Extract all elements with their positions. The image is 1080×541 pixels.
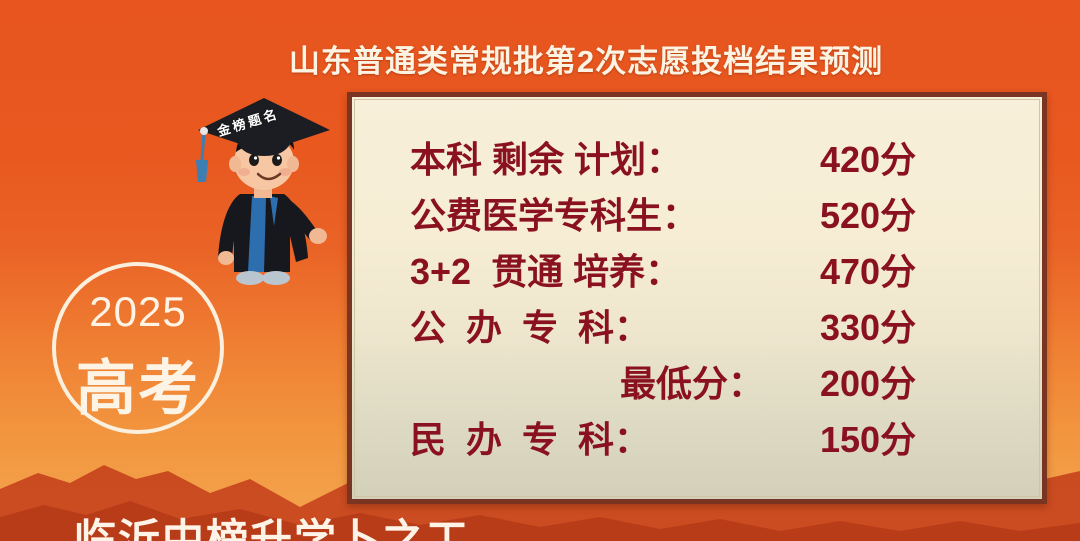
table-row: 民 办 专 科： 150分 xyxy=(352,411,1042,467)
table-row: 公 办 专 科： 330分 xyxy=(352,299,1042,355)
row-value: 470分 xyxy=(802,243,1042,295)
row-label: 本科 剩余 计划： xyxy=(352,131,802,183)
table-row: 本科 剩余 计划： 420分 xyxy=(352,131,1042,187)
row-value: 420分 xyxy=(802,131,1042,183)
row-label: 3+2 贯通 培养： xyxy=(352,243,802,295)
row-value: 150分 xyxy=(802,411,1042,463)
row-label: 民 办 专 科： xyxy=(352,411,802,463)
score-panel: 本科 剩余 计划： 420分 公费医学专科生： 520分 3+2 贯通 培养： … xyxy=(347,92,1047,504)
graduate-boy-icon: 金榜题名 xyxy=(178,86,346,296)
row-value: 200分 xyxy=(802,355,1042,407)
poster-canvas: 山东普通类常规批第2次志愿投档结果预测 2025 高考 xyxy=(0,0,1080,541)
row-value: 330分 xyxy=(802,299,1042,351)
bottom-slogan: 临沂中榜升学卜之工 xyxy=(74,506,470,541)
table-row: 公费医学专科生： 520分 xyxy=(352,187,1042,243)
table-row: 3+2 贯通 培养： 470分 xyxy=(352,243,1042,299)
row-label: 公费医学专科生： xyxy=(352,187,802,239)
row-label: 最低分： xyxy=(352,355,802,407)
row-value: 520分 xyxy=(802,187,1042,239)
page-title: 山东普通类常规批第2次志愿投档结果预测 xyxy=(0,36,1080,81)
badge-word-label: 高考 xyxy=(56,340,220,427)
score-row-list: 本科 剩余 计划： 420分 公费医学专科生： 520分 3+2 贯通 培养： … xyxy=(352,131,1042,467)
table-row: 最低分： 200分 xyxy=(352,355,1042,411)
row-label: 公 办 专 科： xyxy=(352,299,802,351)
